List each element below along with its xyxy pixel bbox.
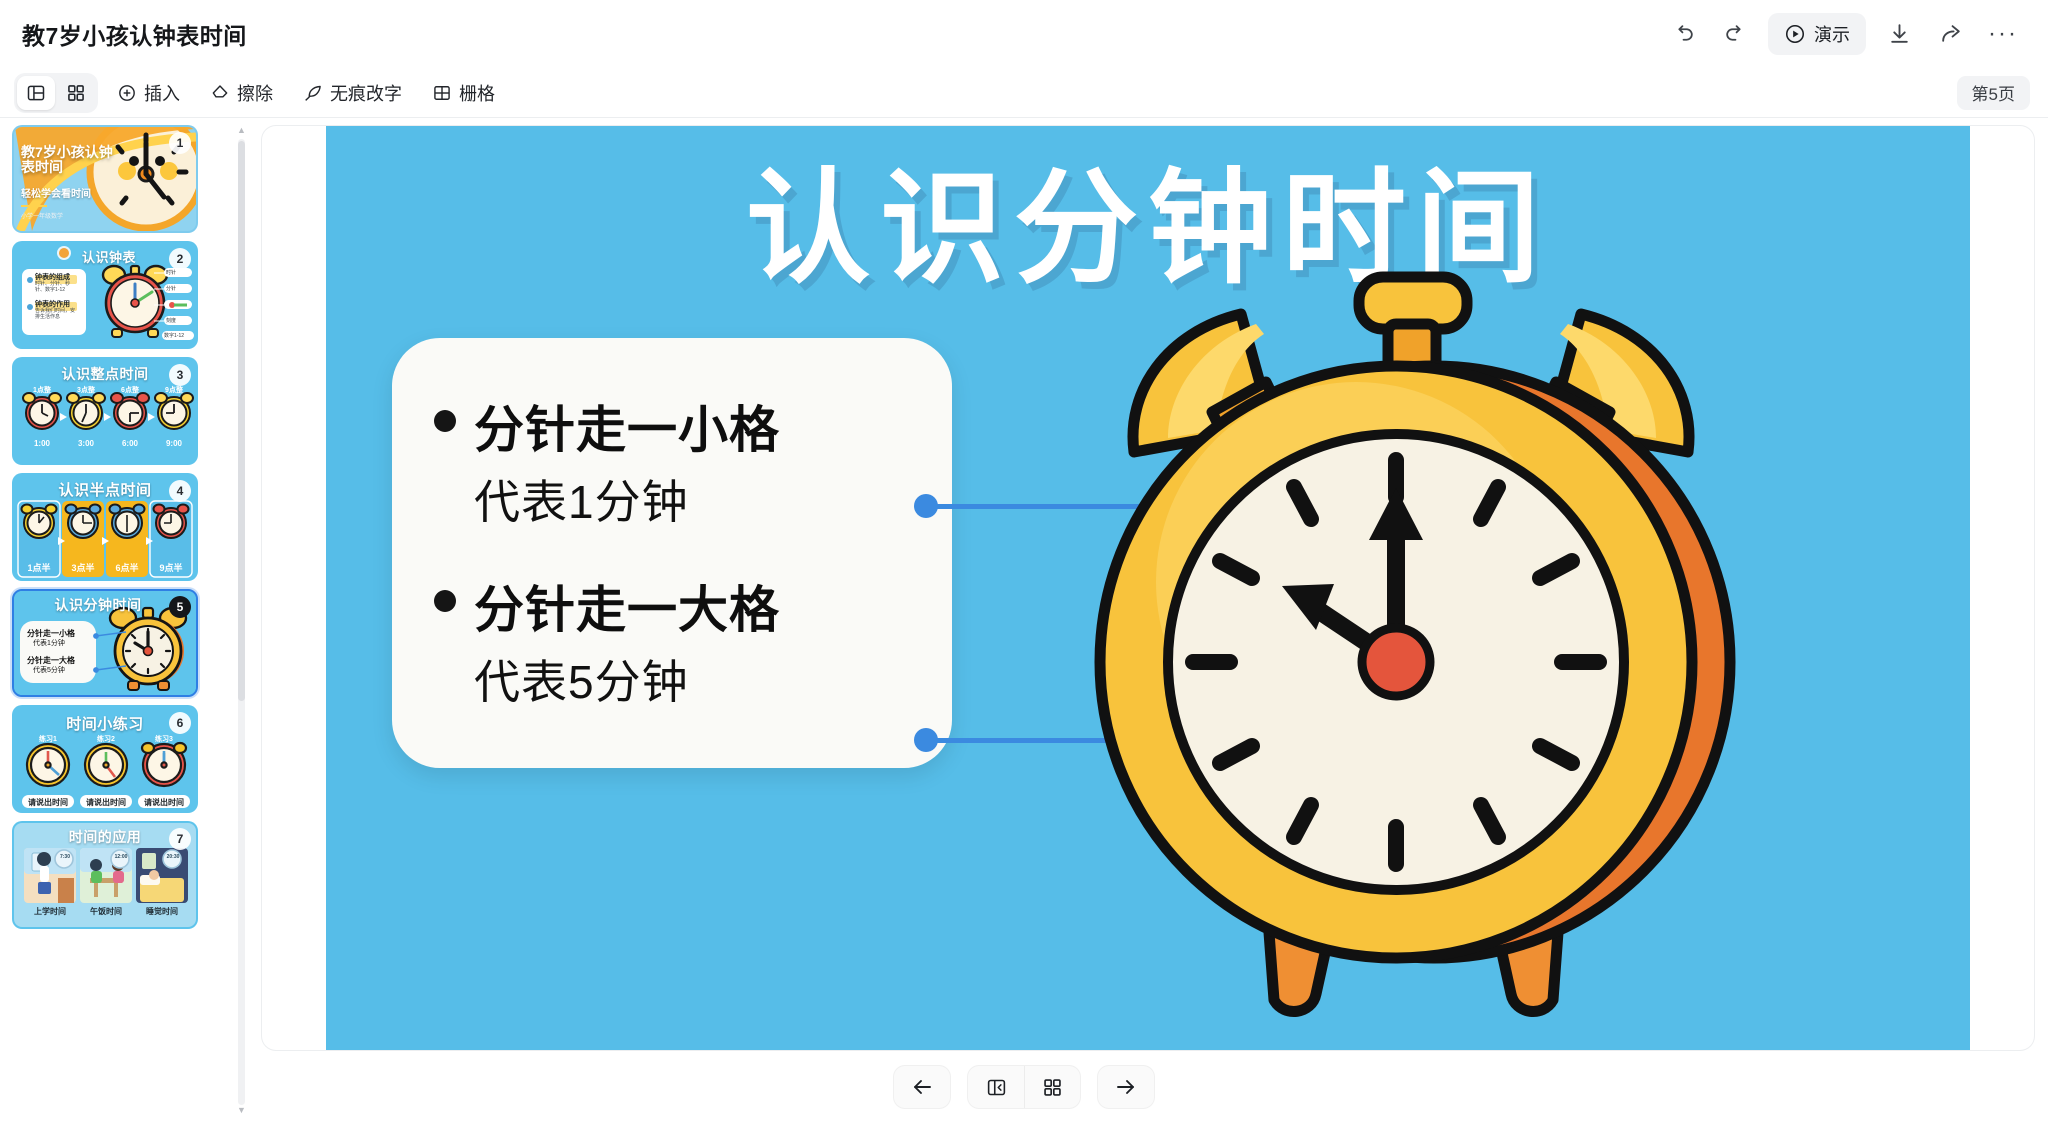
bullet-1-head: 分针走一小格: [474, 390, 780, 462]
scroll-up-icon[interactable]: ▲: [237, 125, 246, 135]
thumbnail-footnote-1: 小学一年级数学: [21, 211, 63, 220]
redo-arrow-icon: [1723, 22, 1748, 47]
grid-overview-button[interactable]: [1024, 1066, 1080, 1108]
pen-edit-icon: [303, 83, 323, 103]
thumbnail-label-2-0: 时针: [166, 269, 176, 276]
thumbnail-subtitle-1: 轻松学会看时间: [21, 185, 91, 200]
undo-arrow-icon: [1671, 22, 1696, 47]
title-bar: 教7岁小孩认钟表时间: [0, 0, 2048, 68]
grid-view-icon: [66, 83, 86, 103]
slide-canvas[interactable]: 认识分钟时间 分针走一小格 代表1分钟 分针走一大格 代表5分钟: [262, 126, 2034, 1050]
redo-button[interactable]: [1712, 11, 1758, 57]
download-button[interactable]: [1876, 11, 1922, 57]
thumbnail-item-label-3-2: 6点整: [112, 385, 148, 395]
tool-erase[interactable]: 擦除: [199, 75, 284, 111]
thumbnail-item-label-4-2: 6点半: [106, 561, 148, 574]
thumbnail-number: 7: [169, 828, 191, 850]
view-toggle-group: [968, 1066, 1080, 1108]
arrow-left-icon: [910, 1075, 934, 1099]
thumbnail-number: 5: [169, 596, 191, 618]
panel-view-button[interactable]: [17, 76, 55, 110]
thumbnail-bullet-body-5b: 代表5分钟: [33, 665, 65, 675]
thumbnail-title-5: 认识分钟时间: [34, 595, 162, 615]
bullet-1-body: 代表1分钟: [474, 466, 926, 532]
thumbnail-title-1: 教7岁小孩认钟表时间: [21, 145, 125, 175]
tool-insert[interactable]: 插入: [106, 75, 191, 111]
tool-text-edit[interactable]: 无痕改字: [292, 75, 413, 111]
previous-slide-button[interactable]: [894, 1066, 950, 1108]
thumbnail-slide-4[interactable]: 4: [12, 473, 198, 581]
thumbnail-item-time-3-1: 3:00: [68, 439, 104, 448]
thumbnail-item-label-3-1: 3点整: [68, 385, 104, 395]
thumbnail-bullet-body-2b: 告诉我们时间，安排生活作息: [35, 308, 79, 321]
thumbnail-item-prompt-6-0: 请说出时间: [22, 797, 74, 808]
more-horizontal-icon: ···: [1988, 29, 2018, 39]
eraser-diamond-icon: [210, 83, 230, 103]
grid-view-button[interactable]: [57, 76, 95, 110]
thumbnail-slide-7[interactable]: 7: [12, 821, 198, 929]
bullet-item-2[interactable]: 分针走一大格 代表5分钟: [434, 570, 926, 712]
connector-dot-1: [914, 494, 938, 518]
arrow-right-icon: [1114, 1075, 1138, 1099]
thumbnail-slide-5[interactable]: 5: [12, 589, 198, 697]
thumbnail-number: 3: [169, 364, 191, 386]
slide-navigation-bar: [0, 1057, 2048, 1117]
thumbnail-item-time-3-2: 6:00: [112, 439, 148, 448]
thumbnail-bullet-body-5a: 代表1分钟: [33, 638, 65, 648]
thumbnail-item-label-6-2: 练习3: [138, 734, 190, 744]
thumbnail-item-time-3-3: 9:00: [156, 439, 192, 448]
thumbnail-slide-6[interactable]: 6: [12, 705, 198, 813]
download-icon: [1887, 22, 1912, 47]
grid-table-icon: [432, 83, 452, 103]
share-button[interactable]: [1928, 11, 1974, 57]
present-button[interactable]: 演示: [1768, 13, 1866, 55]
alarm-clock-illustration: [1016, 252, 1806, 1042]
thumbnail-item-label-7-1: 午饭时间: [80, 906, 132, 917]
thumbnail-title-2: 认识钟表: [48, 247, 170, 266]
thumbnail-item-label-4-0: 1点半: [18, 561, 60, 574]
present-label: 演示: [1814, 21, 1850, 47]
undo-button[interactable]: [1660, 11, 1706, 57]
thumbnail-item-prompt-6-2: 请说出时间: [138, 797, 190, 808]
next-slide-button[interactable]: [1098, 1066, 1154, 1108]
thumbnail-item-label-4-3: 9点半: [150, 561, 192, 574]
thumbnail-item-time-3-0: 1:00: [24, 439, 60, 448]
thumbnail-number: 6: [169, 712, 191, 734]
toggle-sidebar-button[interactable]: [968, 1066, 1024, 1108]
bullet-dot-icon: [434, 410, 456, 432]
thumbnail-item-label-6-1: 练习2: [80, 734, 132, 744]
thumbnail-item-prompt-6-1: 请说出时间: [80, 797, 132, 808]
thumbnail-item-time-7-0: 7:30: [56, 854, 74, 860]
scrollbar-thumb[interactable]: [238, 141, 245, 701]
thumbnail-label-2-4: 数字1-12: [164, 332, 184, 339]
thumbnail-item-label-7-0: 上学时间: [24, 906, 76, 917]
document-title[interactable]: 教7岁小孩认钟表时间: [22, 17, 247, 51]
view-mode-group: [14, 73, 98, 113]
thumbnail-number: 4: [169, 480, 191, 502]
tool-grid[interactable]: 栅格: [421, 75, 506, 111]
connector-dot-2: [914, 728, 938, 752]
page-indicator[interactable]: 第5页: [1957, 76, 2030, 110]
thumbnail-label-2-3: 刻度: [166, 317, 176, 324]
tool-erase-label: 擦除: [237, 80, 273, 106]
thumbnail-item-time-7-1: 12:00: [111, 854, 131, 860]
tool-insert-label: 插入: [144, 80, 180, 106]
thumbnail-bullet-body-2a: 时针、分针、秒针、数字1-12: [35, 281, 79, 294]
thumbnail-item-label-6-0: 练习1: [22, 734, 74, 744]
toggle-sidebar-icon: [986, 1077, 1007, 1098]
bullet-2-head: 分针走一大格: [474, 570, 780, 642]
share-arrow-icon: [1939, 22, 1964, 47]
sidebar-scrollbar[interactable]: ▲ ▼: [237, 125, 246, 1115]
thumbnail-item-label-3-0: 1点整: [24, 385, 60, 395]
thumbnail-slide-1[interactable]: 1: [12, 125, 198, 233]
divider-line: [21, 205, 47, 207]
slide-thumbnail-sidebar: 1: [0, 119, 252, 1127]
thumbnail-list: 1: [12, 125, 234, 937]
grid-view-icon: [1042, 1077, 1063, 1098]
thumbnail-item-label-7-2: 睡觉时间: [136, 906, 188, 917]
panel-layout-icon: [26, 83, 46, 103]
title-bar-actions: 演示 ···: [1660, 11, 2026, 57]
more-options-button[interactable]: ···: [1980, 11, 2026, 57]
bullet-item-1[interactable]: 分针走一小格 代表1分钟: [434, 390, 926, 532]
thumbnail-number: 2: [169, 248, 191, 270]
thumbnail-number: 1: [169, 132, 191, 154]
play-circle-icon: [1784, 23, 1806, 45]
bullet-dot-icon: [434, 590, 456, 612]
thumbnail-label-2-1: 分针: [166, 285, 176, 292]
thumbnail-item-label-3-3: 9点整: [156, 385, 192, 395]
tool-text-edit-label: 无痕改字: [330, 80, 402, 106]
tool-grid-label: 栅格: [459, 80, 495, 106]
bullet-card[interactable]: 分针走一小格 代表1分钟 分针走一大格 代表5分钟: [392, 338, 952, 768]
thumbnail-item-time-7-2: 20:30: [163, 854, 183, 860]
plus-circle-icon: [117, 83, 137, 103]
thumbnail-item-label-4-1: 3点半: [62, 561, 104, 574]
editor-toolbar: 插入 擦除 无痕改字: [0, 68, 2048, 118]
bullet-2-body: 代表5分钟: [474, 646, 926, 712]
thumbnail-slide-3[interactable]: 3: [12, 357, 198, 465]
slide-content[interactable]: 认识分钟时间 分针走一小格 代表1分钟 分针走一大格 代表5分钟: [326, 126, 1970, 1050]
thumbnail-slide-2[interactable]: 2: [12, 241, 198, 349]
